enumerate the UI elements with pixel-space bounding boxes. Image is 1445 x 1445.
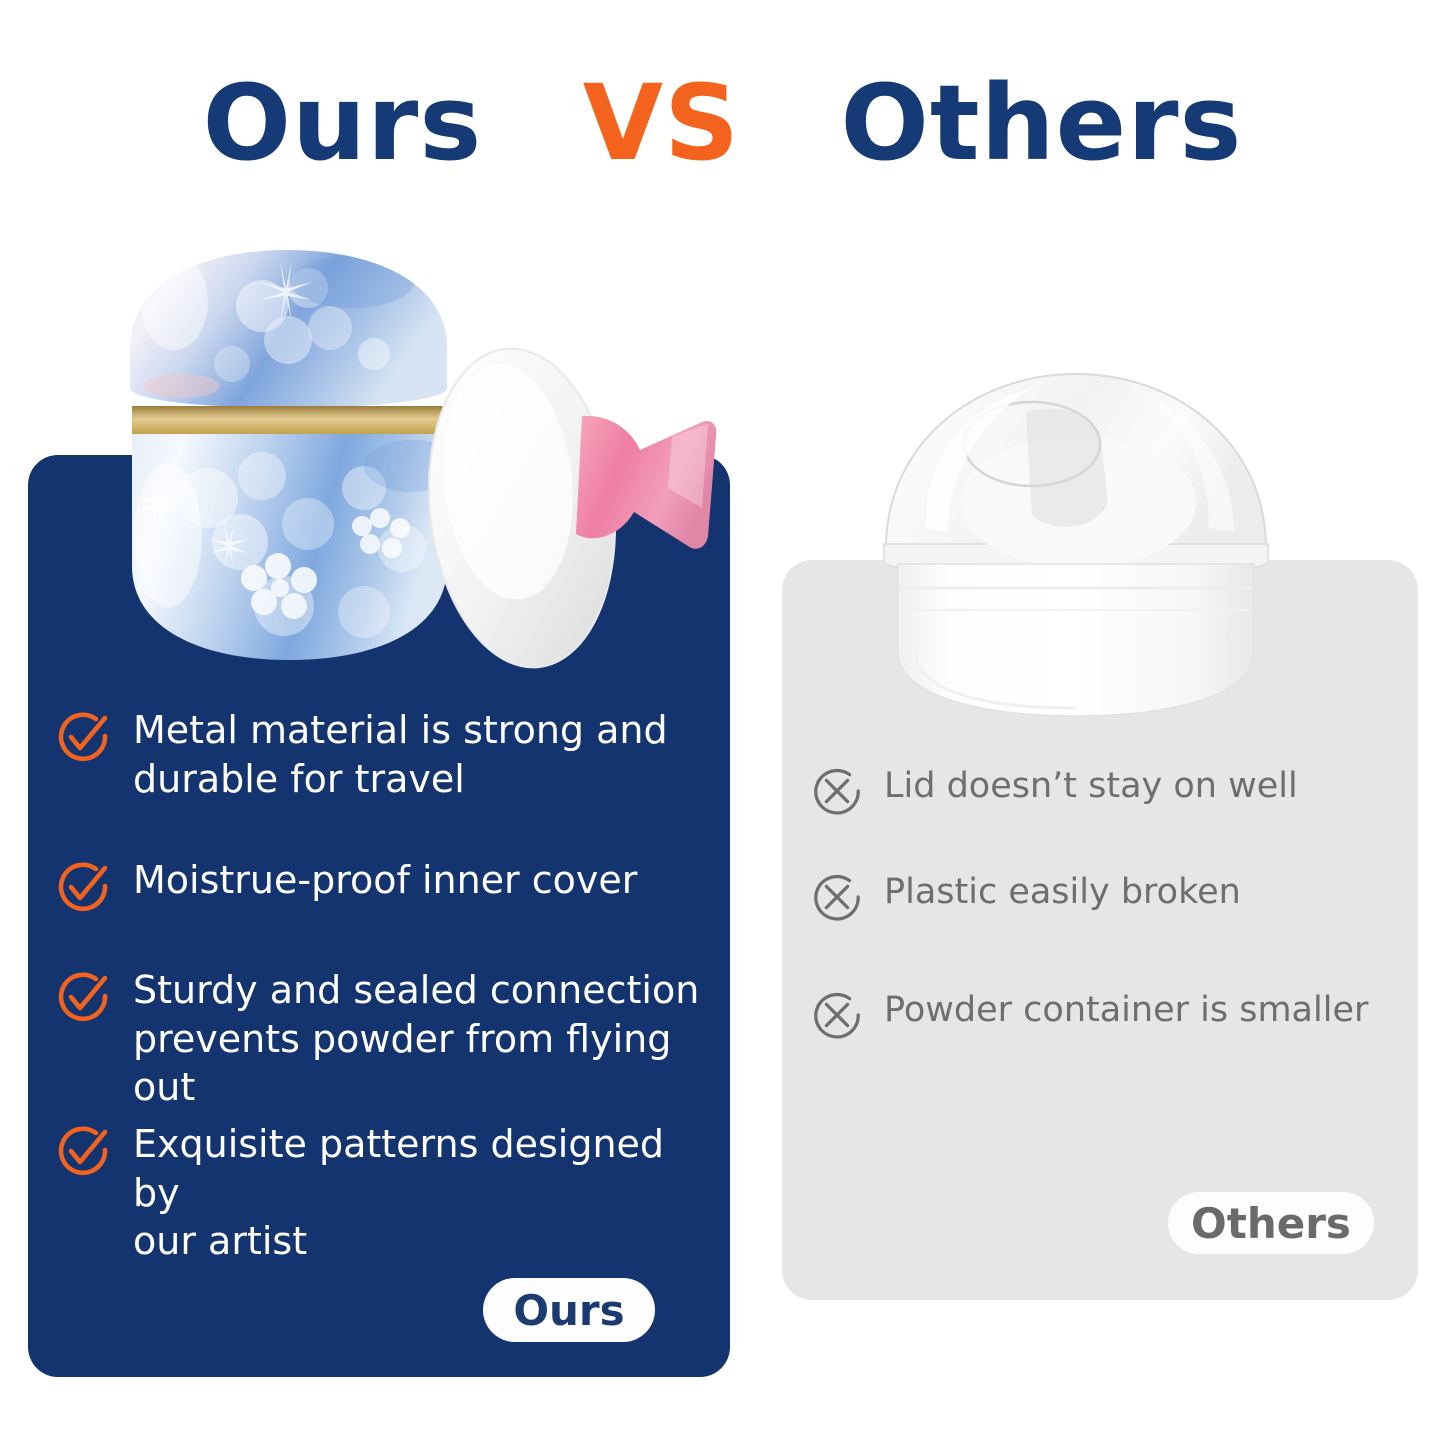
list-item: Lid doesn’t stay on well <box>810 764 1410 818</box>
list-item-label: Metal material is strong and durable for… <box>133 706 668 803</box>
list-item: Sturdy and sealed connection prevents po… <box>55 966 705 1112</box>
check-circle-icon <box>55 968 111 1024</box>
ours-badge-label: Ours <box>513 1286 624 1335</box>
page-title: Ours VS Others <box>0 62 1445 184</box>
check-circle-icon <box>55 858 111 914</box>
list-item: Metal material is strong and durable for… <box>55 706 705 803</box>
x-circle-icon <box>810 870 864 924</box>
clear-dome-lid <box>884 374 1268 576</box>
others-badge-label: Others <box>1191 1199 1351 1248</box>
others-badge: Others <box>1168 1192 1374 1254</box>
list-item-label: Exquisite patterns designed by our artis… <box>133 1120 705 1266</box>
list-item-label: Lid doesn’t stay on well <box>884 764 1298 809</box>
x-circle-icon <box>810 988 864 1042</box>
list-item: Moistrue-proof inner cover <box>55 856 705 914</box>
title-vs-word: VS <box>583 62 740 184</box>
jar-body <box>132 434 460 660</box>
title-ours-word: Ours <box>203 62 483 184</box>
ours-badge: Ours <box>483 1278 655 1342</box>
list-item: Exquisite patterns designed by our artis… <box>55 1120 705 1266</box>
ours-product-image <box>112 236 732 676</box>
list-item-label: Moistrue-proof inner cover <box>133 856 637 905</box>
jar-lid <box>130 250 447 408</box>
list-item-label: Sturdy and sealed connection prevents po… <box>133 966 705 1112</box>
others-product-image <box>856 352 1296 732</box>
list-item: Powder container is smaller <box>810 988 1410 1042</box>
list-item-label: Plastic easily broken <box>884 870 1241 915</box>
title-others-word: Others <box>841 62 1243 184</box>
check-circle-icon <box>55 708 111 764</box>
list-item: Plastic easily broken <box>810 870 1410 924</box>
comparison-infographic: Ours VS Others <box>0 0 1445 1445</box>
check-circle-icon <box>55 1122 111 1178</box>
x-circle-icon <box>810 764 864 818</box>
list-item-label: Powder container is smaller <box>884 988 1368 1033</box>
plastic-base <box>898 564 1254 716</box>
powder-puff <box>414 339 717 676</box>
